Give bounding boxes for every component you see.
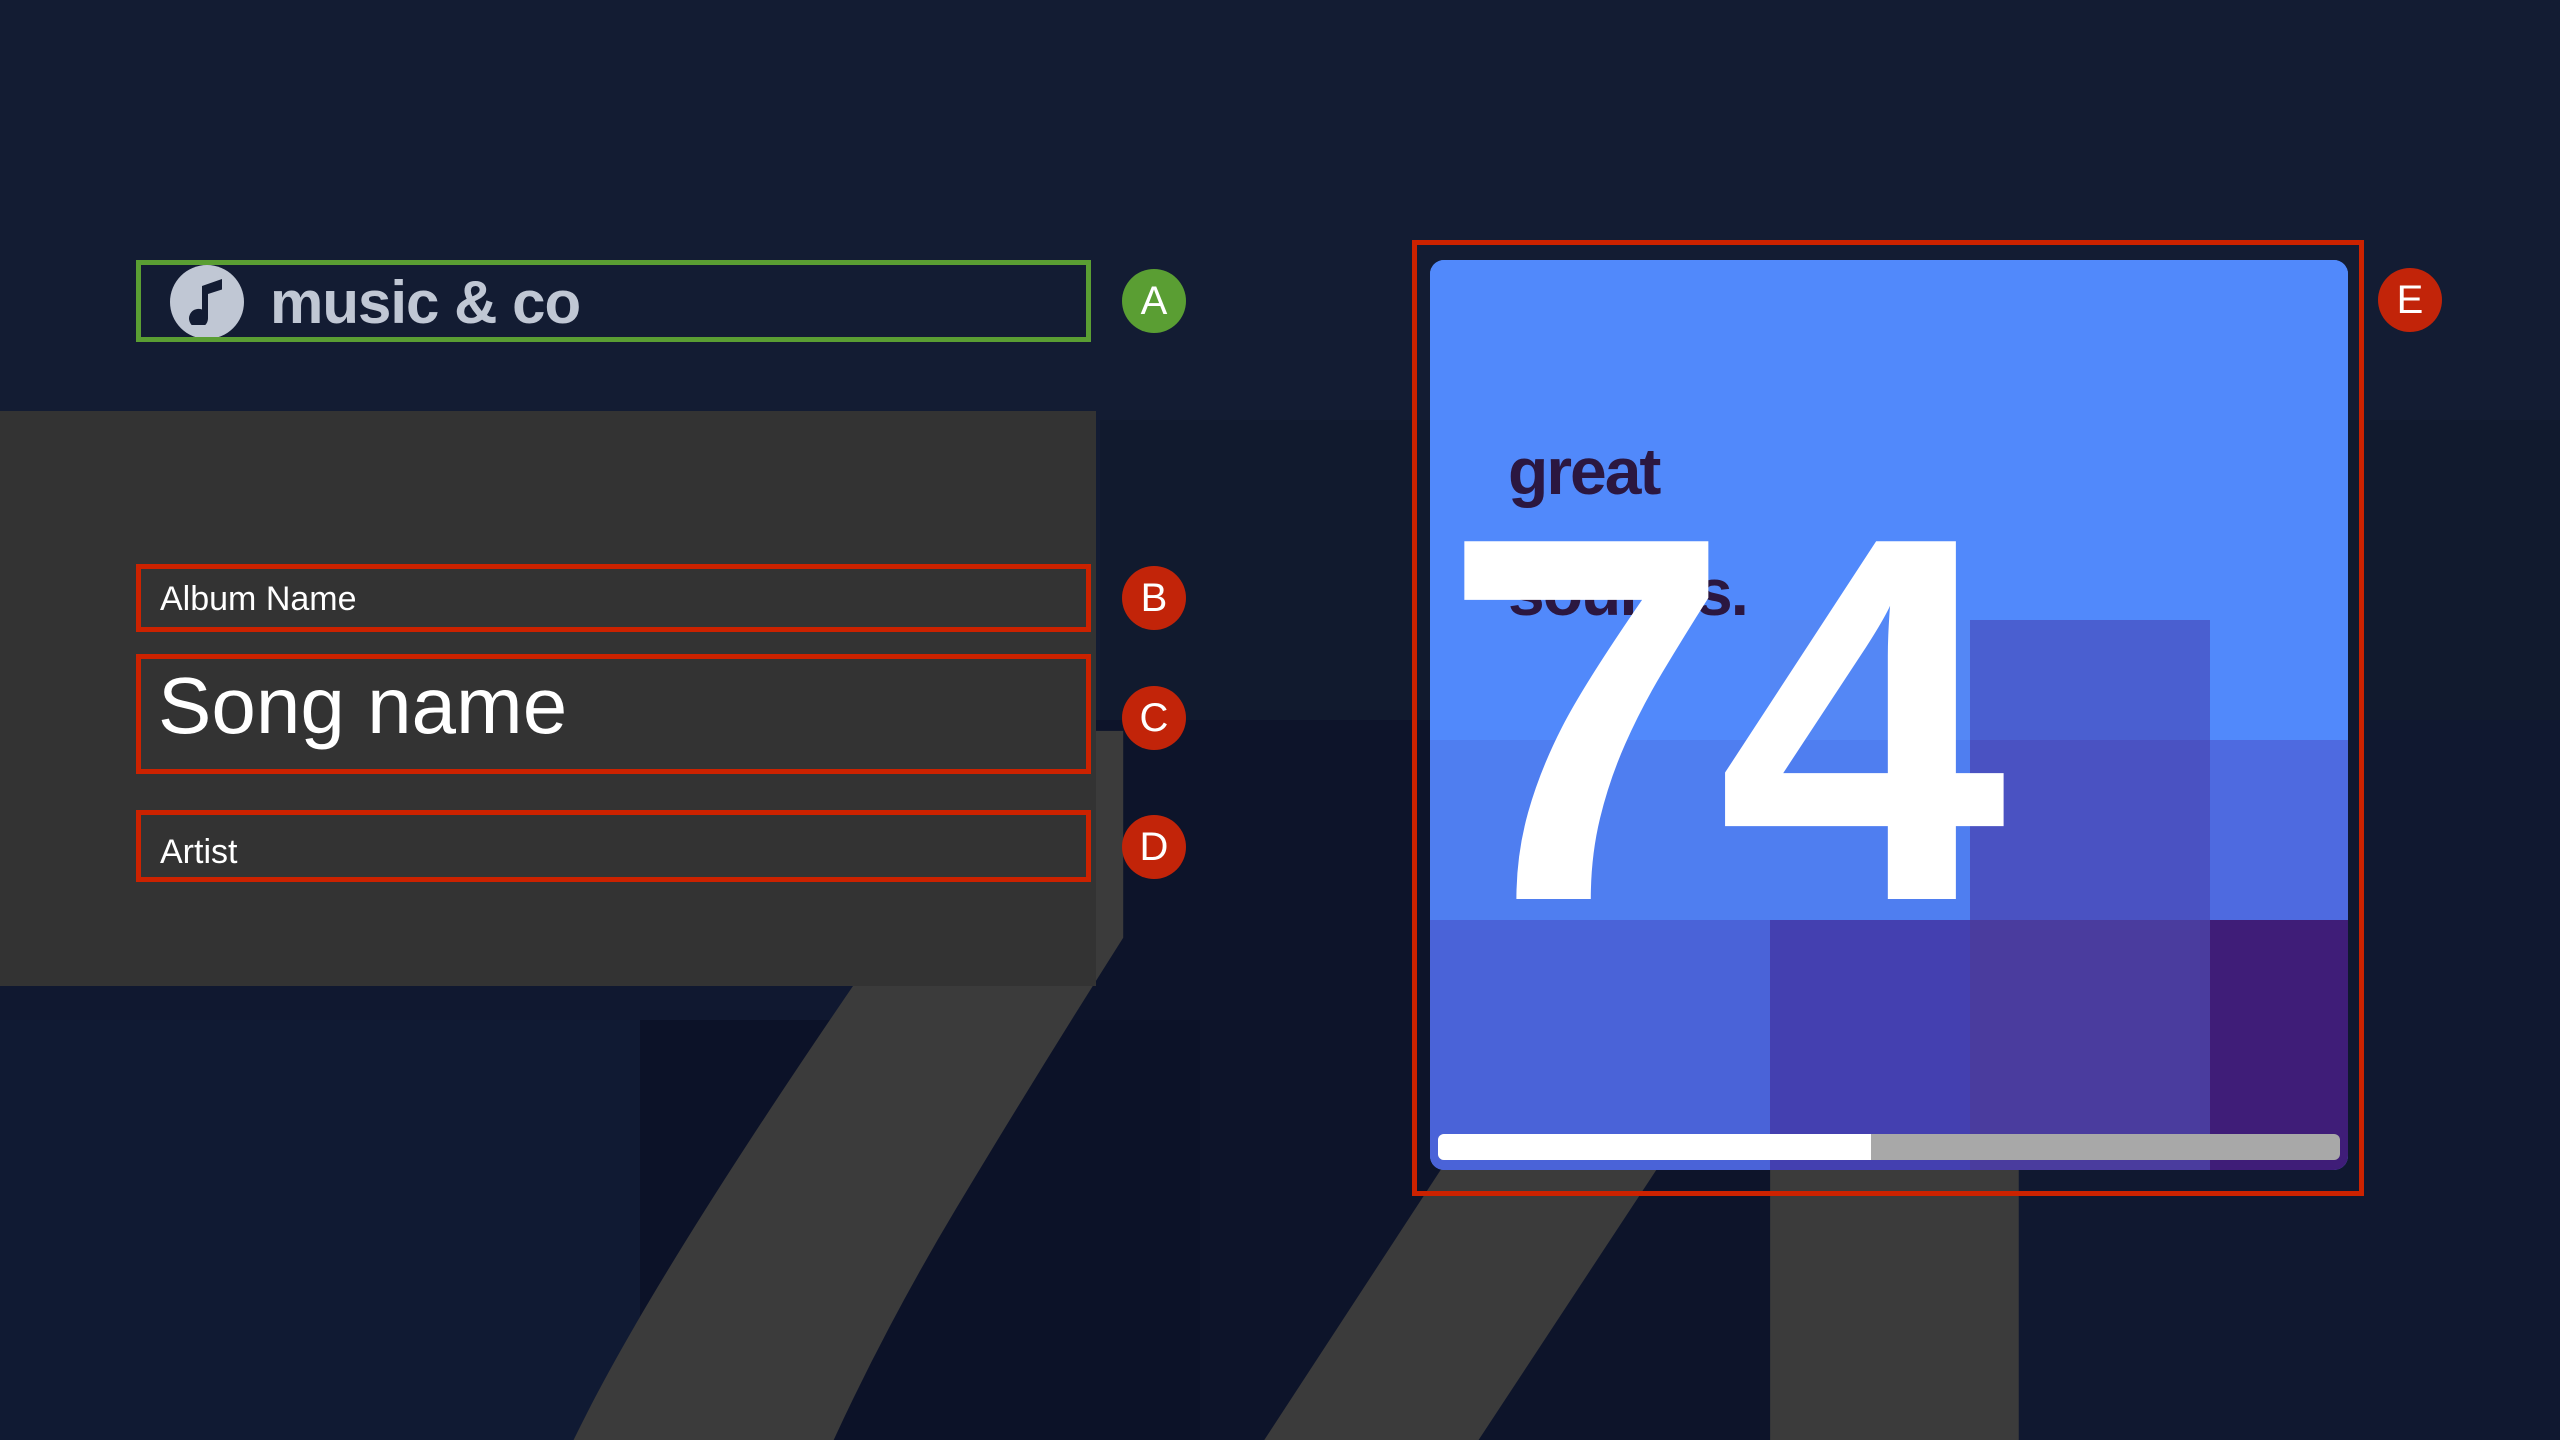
- annotation-badge-letter: C: [1140, 696, 1169, 741]
- annotation-badge-letter: E: [2397, 278, 2424, 323]
- annotation-box-b: [136, 564, 1091, 632]
- left-panel-upper-navy: [0, 0, 1096, 411]
- annotation-badge-a: A: [1122, 269, 1186, 333]
- annotation-badge-letter: A: [1141, 279, 1168, 324]
- annotation-badge-e: E: [2378, 268, 2442, 332]
- annotation-box-c: [136, 654, 1091, 774]
- annotation-box-d: [136, 810, 1091, 882]
- annotation-badge-b: B: [1122, 566, 1186, 630]
- annotation-badge-letter: B: [1141, 576, 1168, 621]
- annotation-badge-letter: D: [1140, 825, 1169, 870]
- annotation-badge-d: D: [1122, 815, 1186, 879]
- annotation-box-e: [1412, 240, 2364, 1196]
- annotation-badge-c: C: [1122, 686, 1186, 750]
- annotation-box-a: [136, 260, 1091, 342]
- screen: 74 music & co Album Name Song name Artis…: [0, 0, 2560, 1440]
